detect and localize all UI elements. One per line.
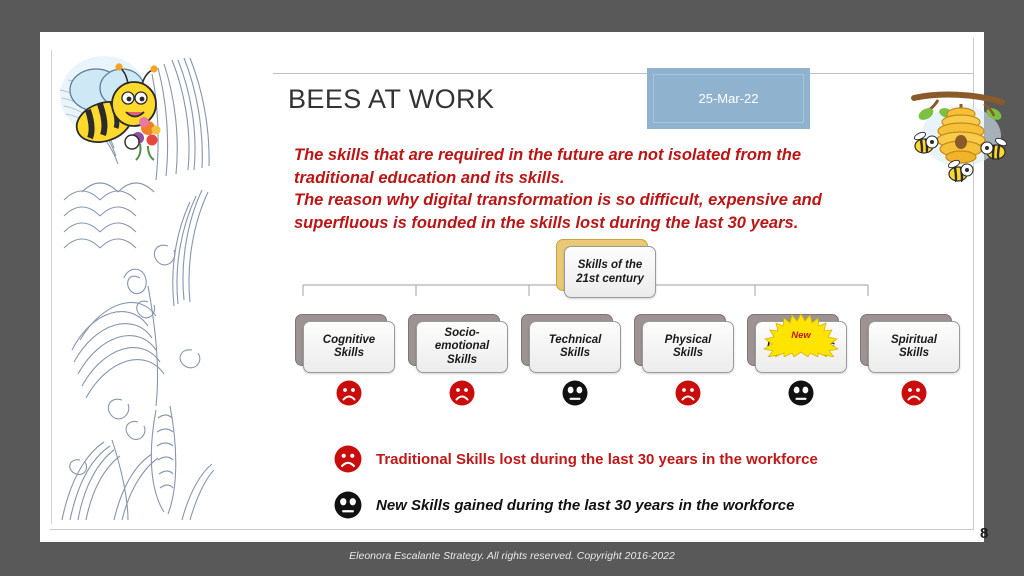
- legend-face-neutral-icon: [334, 491, 362, 519]
- node-socio-line-1: Socio-: [435, 327, 489, 341]
- node-spiritual-line-2: Skills: [891, 347, 937, 361]
- node-technical-skills[interactable]: Technical Skills: [529, 321, 621, 373]
- new-badge-label: New: [791, 330, 811, 341]
- node-physical-skills[interactable]: Physical Skills: [642, 321, 734, 373]
- node-cognitive-line-1: Cognitive: [323, 334, 375, 348]
- slide: BEES AT WORK 25-Mar-22: [40, 32, 984, 542]
- face-neutral-technical: [562, 380, 588, 406]
- face-neutral-digital: [788, 380, 814, 406]
- node-socio-emotional-skills[interactable]: Socio- emotional Skills: [416, 321, 508, 373]
- node-physical-line-2: Skills: [665, 347, 712, 361]
- node-technical-line-1: Technical: [549, 334, 602, 348]
- root-node-skills-21st-century[interactable]: Skills of the 21st century: [564, 246, 656, 298]
- root-node-line-1: Skills of the: [576, 258, 644, 272]
- node-physical-line-1: Physical: [665, 334, 712, 348]
- node-socio-line-2: emotional: [435, 340, 489, 354]
- legend-label-new: New Skills gained during the last 30 yea…: [376, 497, 794, 514]
- legend-face-sad-icon: [334, 445, 362, 473]
- legend-row-traditional: Traditional Skills lost during the last …: [334, 445, 818, 473]
- node-cognitive-line-2: Skills: [323, 347, 375, 361]
- node-cognitive-skills[interactable]: Cognitive Skills: [303, 321, 395, 373]
- root-node-line-2: 21st century: [576, 272, 644, 286]
- skills-diagram: Skills of the 21st century Cognitive Ski…: [40, 32, 984, 542]
- face-sad-cognitive: [336, 380, 362, 406]
- face-sad-physical: [675, 380, 701, 406]
- new-badge-starburst: New: [762, 313, 840, 357]
- page-number: 8: [980, 525, 988, 542]
- date-badge-label: 25-Mar-22: [699, 91, 759, 106]
- face-sad-socio-emotional: [449, 380, 475, 406]
- node-spiritual-skills[interactable]: Spiritual Skills: [868, 321, 960, 373]
- face-sad-spiritual: [901, 380, 927, 406]
- node-technical-line-2: Skills: [549, 347, 602, 361]
- footer-copyright: Eleonora Escalante Strategy. All rights …: [0, 550, 1024, 562]
- legend-label-traditional: Traditional Skills lost during the last …: [376, 451, 818, 468]
- node-spiritual-line-1: Spiritual: [891, 334, 937, 348]
- legend-row-new: New Skills gained during the last 30 yea…: [334, 491, 794, 519]
- node-socio-line-3: Skills: [435, 354, 489, 368]
